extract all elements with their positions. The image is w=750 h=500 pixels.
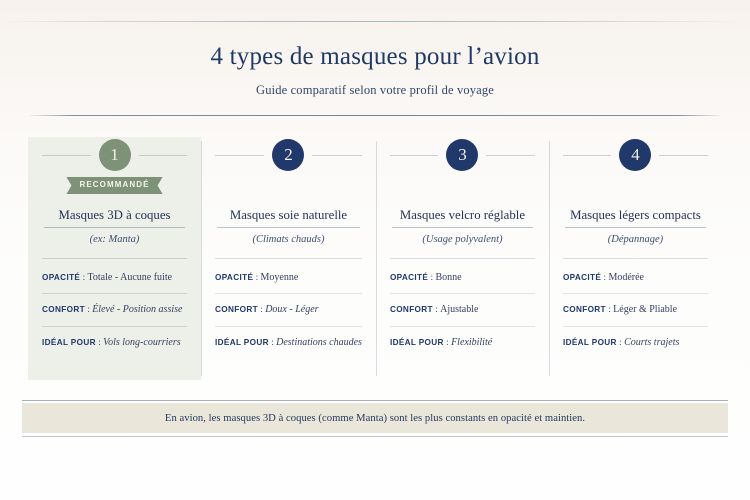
column-title: Masques velcro réglable [390, 208, 535, 228]
column-title: Masques soie naturelle [215, 208, 362, 228]
badge-spacer [390, 177, 535, 194]
column-title: Masques légers compacts [563, 208, 708, 228]
spec-value: Ajustable [440, 304, 478, 315]
number-rule-left [42, 155, 91, 156]
infographic-page: 4 types de masques pour l’avion Guide co… [0, 0, 750, 500]
spec-separator: : [446, 338, 449, 348]
spec-separator: : [98, 338, 101, 348]
comparison-grid: 1RECOMMANDÉMasques 3D à coques(ex: Manta… [28, 137, 722, 380]
rank-circle: 3 [446, 139, 478, 171]
spec-label: IDÉAL POUR [390, 338, 444, 347]
spec-separator: : [435, 305, 438, 315]
column-number-row: 2 [215, 137, 362, 171]
column-number-row: 3 [390, 137, 535, 171]
spec-row: OPACITÉ : Totale - Aucune fuite [42, 262, 187, 293]
recommended-badge-wrap: RECOMMANDÉ [42, 177, 187, 194]
spec-row: OPACITÉ : Bonne [390, 262, 535, 293]
rank-circle: 1 [99, 139, 131, 171]
footer-divider-bottom [22, 436, 728, 437]
spec-label: OPACITÉ [563, 273, 601, 282]
number-rule-right [312, 155, 361, 156]
spec-list: OPACITÉ : ModéréeCONFORT : Léger & Pliab… [563, 262, 708, 357]
spec-separator: : [83, 273, 86, 283]
spec-row: IDÉAL POUR : Flexibilité [390, 326, 535, 358]
comparison-column-3[interactable]: 3Masques velcro réglable(Usage polyvalen… [376, 137, 549, 380]
comparison-column-1[interactable]: 1RECOMMANDÉMasques 3D à coques(ex: Manta… [28, 137, 201, 380]
number-rule-right [139, 155, 188, 156]
spec-separator: : [256, 273, 259, 283]
spec-label: OPACITÉ [42, 273, 80, 282]
comparison-column-4[interactable]: 4Masques légers compacts(Dépannage)OPACI… [549, 137, 722, 380]
top-accent-line [0, 21, 750, 22]
spec-value: Doux - Léger [265, 304, 318, 315]
spec-label: IDÉAL POUR [42, 338, 96, 347]
column-subtitle: (Climats chauds) [215, 234, 362, 245]
spec-value: Totale - Aucune fuite [87, 272, 172, 283]
spec-value: Modérée [608, 272, 644, 283]
spec-row: IDÉAL POUR : Courts trajets [563, 326, 708, 358]
rank-circle: 2 [272, 139, 304, 171]
spec-label: CONFORT [215, 305, 258, 314]
spec-row: IDÉAL POUR : Vols long-courriers [42, 326, 187, 358]
spec-row: CONFORT : Élevé - Position assise [42, 293, 187, 325]
column-title: Masques 3D à coques [42, 208, 187, 228]
footer-text: En avion, les masques 3D à coques (comme… [165, 413, 585, 424]
recommended-badge: RECOMMANDÉ [66, 177, 162, 194]
spec-separator: : [619, 338, 622, 348]
column-subtitle: (ex: Manta) [42, 234, 187, 245]
rank-circle: 4 [619, 139, 651, 171]
spec-label: OPACITÉ [390, 273, 428, 282]
page-subtitle: Guide comparatif selon votre profil de v… [0, 83, 750, 98]
number-rule-left [215, 155, 264, 156]
column-section-divider [215, 258, 362, 259]
footer-banner: En avion, les masques 3D à coques (comme… [22, 403, 728, 433]
column-subtitle: (Dépannage) [563, 234, 708, 245]
header-divider [30, 115, 720, 116]
spec-row: OPACITÉ : Modérée [563, 262, 708, 293]
spec-label: IDÉAL POUR [215, 338, 269, 347]
number-rule-left [390, 155, 439, 156]
spec-value: Élevé - Position assise [92, 304, 182, 315]
spec-value: Flexibilité [451, 337, 492, 348]
column-subtitle: (Usage polyvalent) [390, 234, 535, 245]
spec-row: IDÉAL POUR : Destinations chaudes [215, 326, 362, 358]
spec-value: Vols long-courriers [103, 337, 181, 348]
footer-divider-top [22, 400, 728, 401]
spec-separator: : [431, 273, 434, 283]
column-number-row: 4 [563, 137, 708, 171]
spec-label: CONFORT [42, 305, 85, 314]
number-rule-left [563, 155, 612, 156]
spec-separator: : [87, 305, 90, 315]
spec-separator: : [260, 305, 263, 315]
page-title: 4 types de masques pour l’avion [0, 42, 750, 72]
number-rule-right [659, 155, 708, 156]
spec-row: CONFORT : Léger & Pliable [563, 293, 708, 325]
spec-label: CONFORT [563, 305, 606, 314]
comparison-column-2[interactable]: 2Masques soie naturelle(Climats chauds)O… [201, 137, 376, 380]
spec-value: Bonne [435, 272, 461, 283]
spec-value: Moyenne [261, 272, 299, 283]
column-section-divider [390, 258, 535, 259]
spec-label: IDÉAL POUR [563, 338, 617, 347]
spec-row: CONFORT : Doux - Léger [215, 293, 362, 325]
spec-list: OPACITÉ : BonneCONFORT : AjustableIDÉAL … [390, 262, 535, 357]
badge-spacer [563, 177, 708, 194]
column-section-divider [42, 258, 187, 259]
spec-label: CONFORT [390, 305, 433, 314]
spec-label: OPACITÉ [215, 273, 253, 282]
page-header: 4 types de masques pour l’avion Guide co… [0, 42, 750, 98]
spec-list: OPACITÉ : MoyenneCONFORT : Doux - LégerI… [215, 262, 362, 357]
badge-spacer [215, 177, 362, 194]
column-number-row: 1 [42, 137, 187, 171]
number-rule-right [486, 155, 535, 156]
column-section-divider [563, 258, 708, 259]
spec-separator: : [608, 305, 611, 315]
spec-row: CONFORT : Ajustable [390, 293, 535, 325]
spec-row: OPACITÉ : Moyenne [215, 262, 362, 293]
spec-value: Léger & Pliable [613, 304, 677, 315]
spec-value: Courts trajets [624, 337, 679, 348]
spec-list: OPACITÉ : Totale - Aucune fuiteCONFORT :… [42, 262, 187, 357]
spec-separator: : [604, 273, 607, 283]
spec-value: Destinations chaudes [276, 337, 362, 348]
spec-separator: : [271, 338, 274, 348]
